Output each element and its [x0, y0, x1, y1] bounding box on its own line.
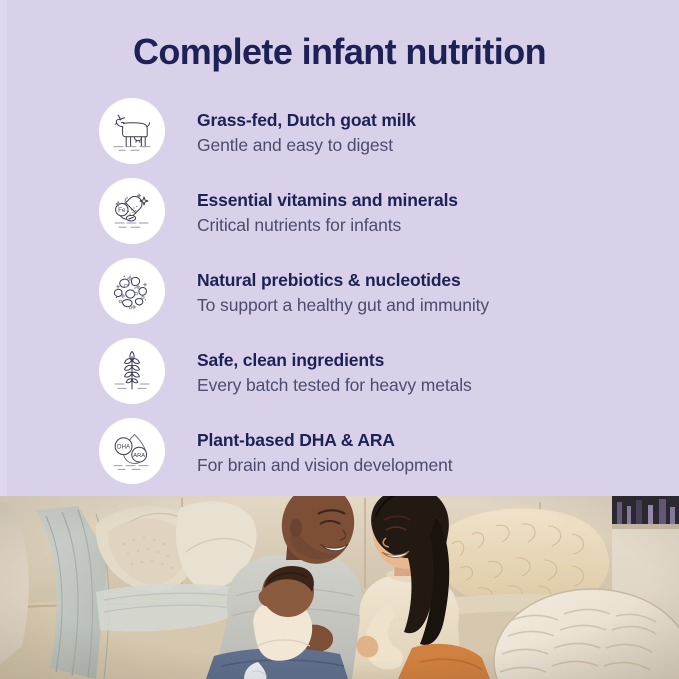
feature-text-block: Safe, clean ingredients Every batch test…: [197, 348, 667, 397]
feature-subtitle: For brain and vision development: [197, 453, 667, 477]
page-title: Complete infant nutrition: [0, 30, 679, 73]
panel-left-edge: [0, 0, 7, 496]
feature-subtitle: Every batch tested for heavy metals: [197, 373, 667, 397]
feature-list: Grass-fed, Dutch goat milk Gentle and ea…: [99, 98, 659, 498]
feature-title: Grass-fed, Dutch goat milk: [197, 108, 667, 132]
feature-item-dha-ara: DHA ARA Plant-based DHA & ARA For b: [99, 418, 659, 498]
feature-item-prebiotics: Natural prebiotics & nucleotides To supp…: [99, 258, 659, 338]
feature-text-block: Plant-based DHA & ARA For brain and visi…: [197, 428, 667, 477]
goat-icon: [99, 98, 165, 164]
lifestyle-photo: [0, 496, 679, 679]
feature-title: Plant-based DHA & ARA: [197, 428, 667, 452]
feature-item-vitamins: Fe: [99, 178, 659, 258]
svg-text:ARA: ARA: [133, 453, 145, 459]
feature-text-block: Essential vitamins and minerals Critical…: [197, 188, 667, 237]
feature-subtitle: Critical nutrients for infants: [197, 213, 667, 237]
feature-item-clean-ingredients: Safe, clean ingredients Every batch test…: [99, 338, 659, 418]
feature-subtitle: To support a healthy gut and immunity: [197, 293, 667, 317]
info-panel: Complete infant nutrition: [0, 0, 679, 496]
svg-text:Fe: Fe: [118, 207, 126, 214]
feature-item-goat-milk: Grass-fed, Dutch goat milk Gentle and ea…: [99, 98, 659, 178]
wheat-stalk-icon: [99, 338, 165, 404]
product-feature-poster: Complete infant nutrition: [0, 0, 679, 679]
feature-text-block: Grass-fed, Dutch goat milk Gentle and ea…: [197, 108, 667, 157]
feature-text-block: Natural prebiotics & nucleotides To supp…: [197, 268, 667, 317]
probiotic-bacteria-icon: [99, 258, 165, 324]
feature-title: Essential vitamins and minerals: [197, 188, 667, 212]
dha-ara-droplet-icon: DHA ARA: [99, 418, 165, 484]
vitamin-capsule-icon: Fe: [99, 178, 165, 244]
svg-text:DHA: DHA: [117, 444, 131, 451]
feature-title: Safe, clean ingredients: [197, 348, 667, 372]
feature-title: Natural prebiotics & nucleotides: [197, 268, 667, 292]
feature-subtitle: Gentle and easy to digest: [197, 133, 667, 157]
